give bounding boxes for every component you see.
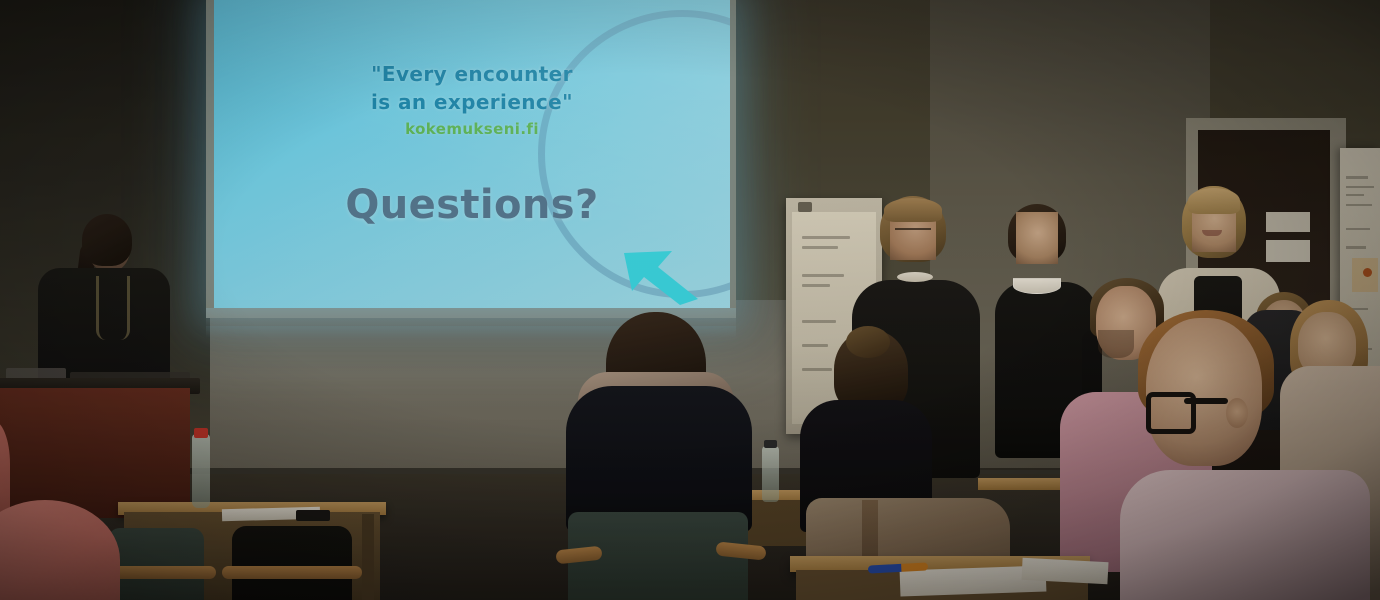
presenter-hair (82, 214, 132, 266)
door-sign-lower (1266, 240, 1310, 262)
chair-left-dark-armrest (222, 566, 362, 579)
standing-woman-1-necklace (897, 272, 933, 282)
slide-quote-line2: is an experience" (214, 90, 730, 114)
slide-quote-line1: "Every encounter (214, 62, 730, 86)
chair-left-dark (232, 526, 352, 600)
standing-woman-1-glasses (895, 228, 931, 238)
flipchart-clip (798, 202, 812, 212)
chair-left-green (108, 528, 204, 600)
dark-object-left-table (296, 510, 330, 521)
seated-man-pink-beard (1098, 330, 1134, 358)
presenter-lanyard (96, 276, 130, 340)
seated-woman-scarf-body (566, 386, 752, 532)
standing-woman-2-necklace (1013, 278, 1061, 294)
standing-woman-3-smile (1202, 230, 1222, 236)
water-bottle-center-cap (764, 440, 777, 448)
table-left-leg (362, 514, 374, 600)
water-bottle-left-cap (194, 428, 208, 438)
door-sign-upper (1266, 212, 1310, 232)
slide-circle-graphic (538, 10, 730, 298)
foreground-man-ear (1226, 398, 1248, 428)
seated-person-2-bun (846, 326, 890, 358)
lectern (0, 388, 190, 518)
standing-woman-3-fringe (1188, 188, 1240, 214)
slide-website: kokemukseni.fi (214, 120, 730, 138)
water-bottle-left (192, 434, 210, 508)
standing-woman-1-fringe (884, 198, 942, 222)
water-bottle-center (762, 446, 779, 502)
photo-scene: "Every encounter is an experience" kokem… (0, 0, 1380, 600)
arrow-up-left-icon (622, 247, 700, 307)
projected-slide: "Every encounter is an experience" kokem… (214, 0, 730, 308)
notice-board-dot (1363, 268, 1372, 277)
slide-headline: Questions? (214, 182, 730, 228)
foreground-man-glasses-temple (1184, 398, 1228, 404)
papers-foreground-2 (1021, 558, 1108, 584)
foreground-man-shirt (1120, 470, 1370, 600)
standing-woman-2-head (1016, 212, 1058, 264)
